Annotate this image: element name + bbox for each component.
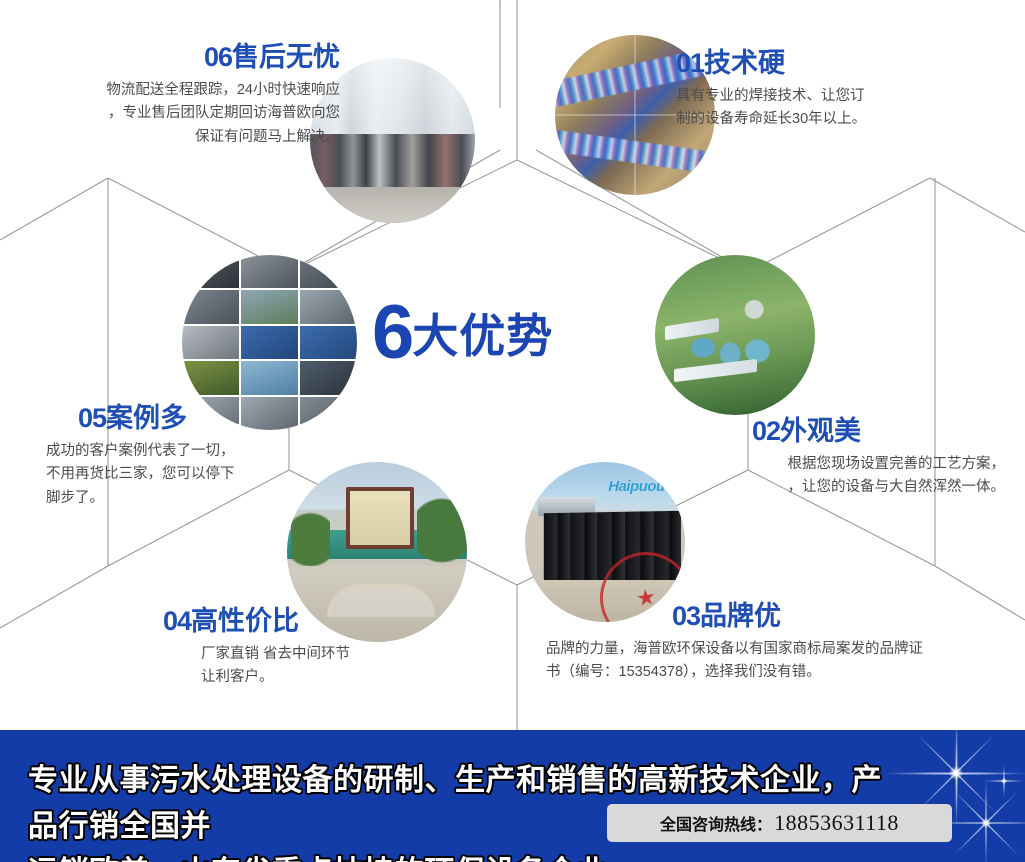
feature-01: 01技术硬 具有专业的焊接技术、让您订 制的设备寿命延长30年以上。 xyxy=(676,50,996,132)
feature-06-description: 物流配送全程跟踪，24小时快速响应 ，专业售后团队定期回访海普欧向您 保证有问题… xyxy=(20,79,340,149)
feature-05: 05案例多 成功的客户案例代表了一切， 不用再货比三家，您可以停下 脚步了。 xyxy=(78,405,408,510)
spoke-upper-right xyxy=(748,178,930,272)
feature-04-desc-line: 让利客户。 xyxy=(201,666,493,689)
feature-04-number: 04 xyxy=(163,606,191,636)
feature-01-desc-line: 制的设备寿命延长30年以上。 xyxy=(676,108,996,131)
aerial-sewage-plant-photo xyxy=(655,255,815,415)
case-tile xyxy=(241,255,298,288)
sparkle-icon-large xyxy=(955,772,957,774)
feature-05-label: 案例多 xyxy=(106,403,187,433)
feature-05-desc-line: 不用再货比三家，您可以停下 xyxy=(46,463,408,486)
feature-04-title: 04高性价比 xyxy=(163,608,493,635)
case-tile xyxy=(300,290,357,323)
feature-03: 03品牌优 品牌的力量，海普欧环保设备以有国家商标局案发的品牌证 书（编号：15… xyxy=(546,603,1016,685)
sparkle-icon-small xyxy=(1003,780,1005,782)
cases-grid xyxy=(182,255,357,430)
feature-05-number: 05 xyxy=(78,403,106,433)
feature-06-desc-line: ，专业售后团队定期回访海普欧向您 xyxy=(20,102,340,125)
outer-edge-upper-right xyxy=(930,178,1025,232)
sparkle-icon-medium xyxy=(985,822,987,824)
feature-02-desc-line: 根据您现场设置完善的工艺方案， xyxy=(630,453,1005,476)
feature-03-title: 03品牌优 xyxy=(672,603,1016,630)
feature-06-label: 售后无忧 xyxy=(232,42,340,72)
feature-03-label: 品牌优 xyxy=(700,601,781,631)
feature-02-title: 02外观美 xyxy=(752,418,1005,445)
center-badge-number: 6 xyxy=(372,290,412,375)
hotline-label: 全国咨询热线： xyxy=(660,811,772,835)
feature-04-desc-line: 厂家直销 省去中间环节 xyxy=(201,643,493,666)
feature-03-desc-line: 书（编号：15354378），选择我们没有错。 xyxy=(546,661,1016,684)
gate-tree-right xyxy=(417,484,467,578)
feature-06-desc-line: 物流配送全程跟踪，24小时快速响应 xyxy=(20,79,340,102)
center-badge-label: 大优势 xyxy=(412,310,553,362)
case-tile xyxy=(241,326,298,359)
feature-04: 04高性价比 厂家直销 省去中间环节 让利客户。 xyxy=(163,608,493,690)
feature-01-description: 具有专业的焊接技术、让您订 制的设备寿命延长30年以上。 xyxy=(676,85,996,132)
hotline-badge[interactable]: 全国咨询热线：18853631118 xyxy=(607,804,952,842)
feature-06-desc-line: 保证有问题马上解决。 xyxy=(20,126,340,149)
feature-05-desc-line: 成功的客户案例代表了一切， xyxy=(46,440,408,463)
feature-06: 06售后无忧 物流配送全程跟踪，24小时快速响应 ，专业售后团队定期回访海普欧向… xyxy=(20,44,340,149)
case-tile xyxy=(182,290,239,323)
case-tile xyxy=(300,326,357,359)
feature-01-desc-line: 具有专业的焊接技术、让您订 xyxy=(676,85,996,108)
feature-02-label: 外观美 xyxy=(780,416,861,446)
case-tile xyxy=(241,290,298,323)
feature-03-number: 03 xyxy=(672,601,700,631)
feature-04-description: 厂家直销 省去中间环节 让利客户。 xyxy=(201,643,493,690)
outer-edge-upper-left xyxy=(0,178,108,240)
feature-05-title: 05案例多 xyxy=(78,405,408,432)
feature-01-label: 技术硬 xyxy=(704,48,785,78)
feature-03-description: 品牌的力量，海普欧环保设备以有国家商标局案发的品牌证 书（编号：15354378… xyxy=(546,638,1016,685)
feature-02-number: 02 xyxy=(752,416,780,446)
project-cases-collage-photo xyxy=(182,255,357,430)
case-tile xyxy=(300,361,357,394)
feature-02-description: 根据您现场设置完善的工艺方案， ，让您的设备与大自然浑然一体。 xyxy=(630,453,1005,500)
feature-02: 02外观美 根据您现场设置完善的工艺方案， ，让您的设备与大自然浑然一体。 xyxy=(630,418,1005,500)
case-tile xyxy=(241,361,298,394)
hotline-number: 18853631118 xyxy=(774,810,899,836)
feature-05-desc-line: 脚步了。 xyxy=(46,487,408,510)
case-tile xyxy=(300,255,357,288)
center-badge: 6大优势 xyxy=(372,292,662,378)
feature-06-title: 06售后无忧 xyxy=(20,44,340,71)
bottom-banner: 专业从事污水处理设备的研制、生产和销售的高新技术企业，产品行销全国并 远销欧美，… xyxy=(0,730,1025,862)
feature-04-label: 高性价比 xyxy=(191,606,299,636)
feature-02-desc-line: ，让您的设备与大自然浑然一体。 xyxy=(630,476,1005,499)
case-tile xyxy=(182,326,239,359)
case-tile xyxy=(182,255,239,288)
feature-03-desc-line: 品牌的力量，海普欧环保设备以有国家商标局案发的品牌证 xyxy=(546,638,1016,661)
case-tile xyxy=(182,361,239,394)
banner-slogan-line: 远销欧美，山东省重点扶持的环保设备企业。 xyxy=(28,850,908,862)
feature-06-number: 06 xyxy=(204,42,232,72)
feature-01-title: 01技术硬 xyxy=(676,50,996,77)
feature-05-description: 成功的客户案例代表了一切， 不用再货比三家，您可以停下 脚步了。 xyxy=(46,440,408,510)
feature-01-number: 01 xyxy=(676,48,704,78)
infographic-page: Haipuou ★ xyxy=(0,0,1025,862)
outer-edge-lower-left xyxy=(0,566,108,628)
